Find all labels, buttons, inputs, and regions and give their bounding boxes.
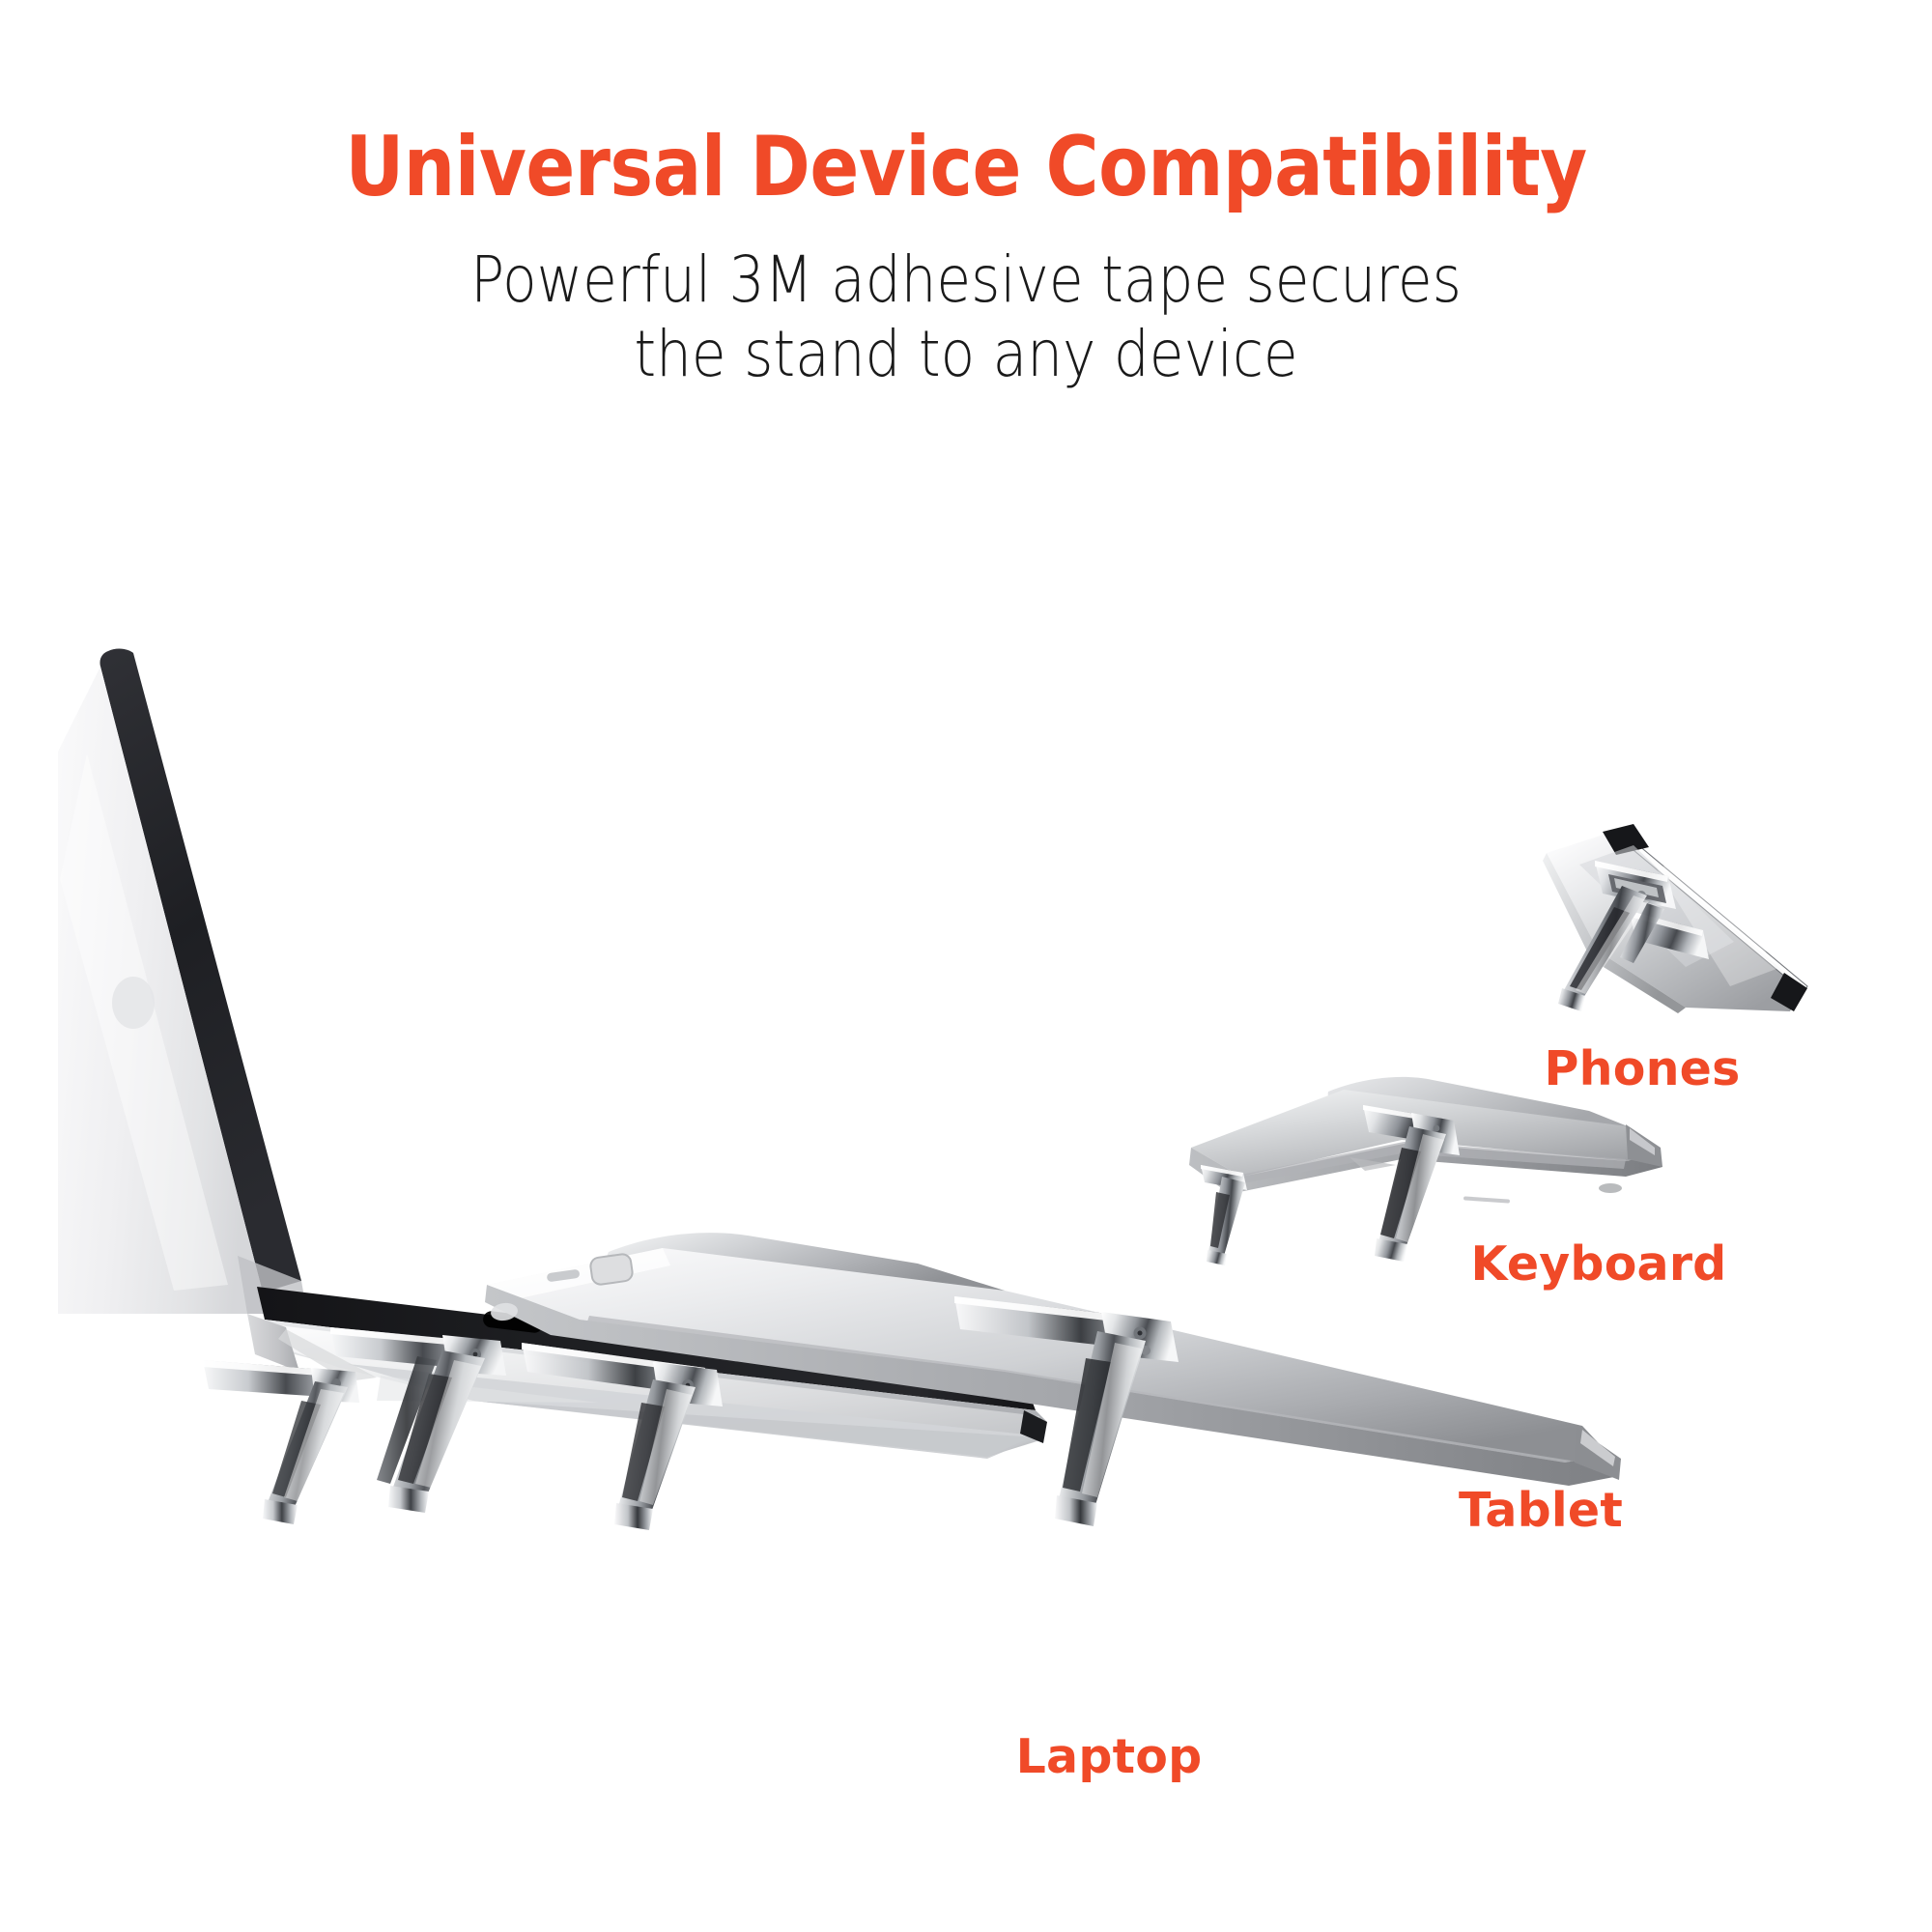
keyboard-label-etch: [1463, 1196, 1510, 1203]
tablet-device-icon: [464, 1227, 1642, 1633]
tablet-stand-leg-left: [522, 1343, 723, 1530]
header-block: Universal Device Compatibility Powerful …: [0, 126, 1932, 391]
infographic-canvas: Universal Device Compatibility Powerful …: [0, 0, 1932, 1932]
phone-device-illustration: [1541, 807, 1850, 1034]
tablet-camera-module: [589, 1253, 633, 1286]
subtitle-line-1: Powerful 3M adhesive tape secures: [116, 243, 1816, 318]
phone-device-icon: [1541, 807, 1850, 1034]
laptop-lid-logo: [112, 977, 155, 1029]
keyboard-stand-leg-left: [1201, 1165, 1247, 1265]
label-laptop: Laptop: [1016, 1729, 1203, 1784]
keyboard-rubber-foot: [1599, 1183, 1622, 1193]
label-tablet: Tablet: [1459, 1483, 1623, 1538]
keyboard-stand-leg-right: [1363, 1105, 1460, 1262]
label-keyboard: Keyboard: [1471, 1236, 1727, 1292]
page-title: Universal Device Compatibility: [29, 126, 1903, 209]
label-phones: Phones: [1545, 1041, 1741, 1096]
laptop-stand-leg-left: [203, 1360, 359, 1524]
tablet-device-illustration: [464, 1227, 1642, 1633]
page-subtitle: Powerful 3M adhesive tape secures the st…: [116, 243, 1816, 391]
subtitle-line-2: the stand to any device: [116, 318, 1816, 392]
